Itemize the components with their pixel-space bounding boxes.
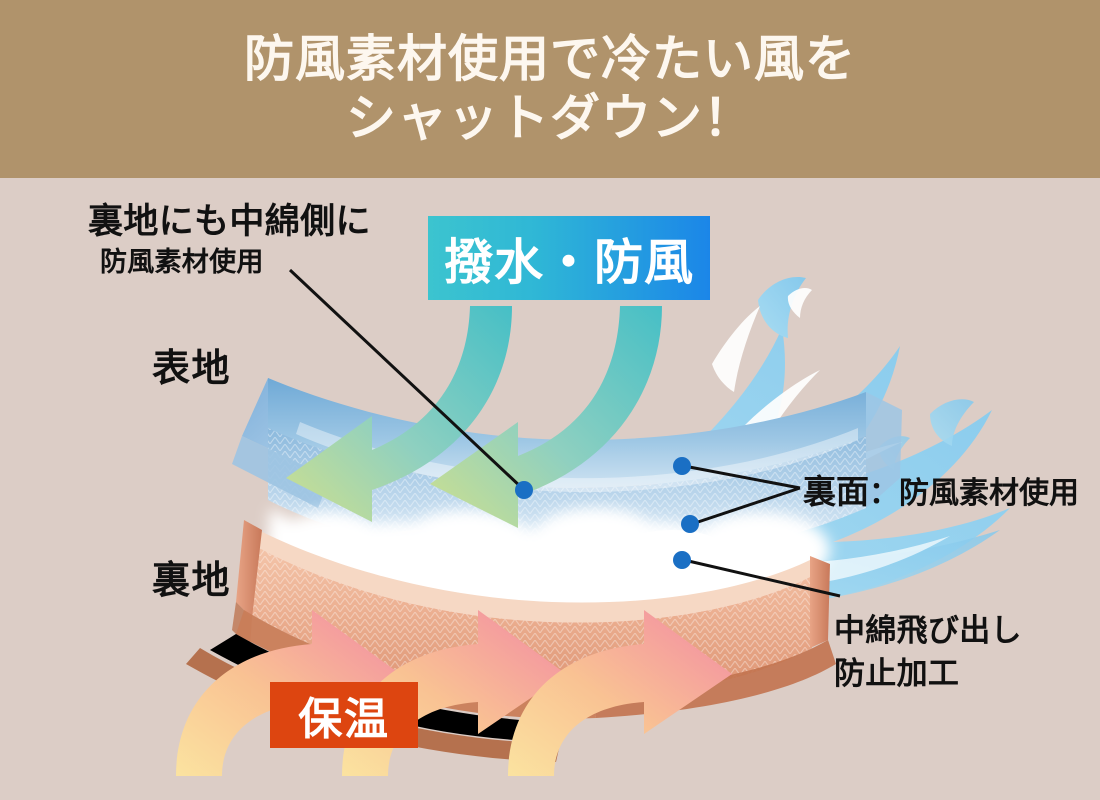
label-anti-leak-line-1: 中綿飛び出し xyxy=(834,605,1022,650)
label-back-side-value: 防風素材使用 xyxy=(899,477,1079,510)
header-banner: 防風素材使用で冷たい風を シャットダウン！ xyxy=(0,0,1100,178)
badge-water-repellent-windproof: 撥水・防風 xyxy=(428,216,710,300)
callout-dot-outer-back xyxy=(673,457,691,475)
callout-dot-batting xyxy=(515,481,533,499)
label-inner-lining-title: 裏地にも中綿側に xyxy=(88,193,371,244)
header-title-line-1: 防風素材使用で冷たい風を xyxy=(244,30,856,89)
label-outer-fabric: 表地 xyxy=(152,337,231,392)
label-lining: 裏地 xyxy=(152,549,231,604)
label-anti-leak-line-2: 防止加工 xyxy=(834,648,959,693)
label-inner-lining-sub: 防風素材使用 xyxy=(100,240,264,279)
label-back-side-prefix: 裏面 xyxy=(803,473,869,510)
callout-dot-mid-back xyxy=(681,515,699,533)
infographic-canvas: 防風素材使用で冷たい風を シャットダウン！ xyxy=(0,0,1100,800)
header-title-line-2: シャットダウン！ xyxy=(346,89,754,148)
label-back-side-separator: ： xyxy=(869,477,899,510)
callout-dot-lining-back xyxy=(673,551,691,569)
badge-heat-retention: 保温 xyxy=(270,682,418,748)
label-back-side: 裏面：防風素材使用 xyxy=(803,465,1079,513)
